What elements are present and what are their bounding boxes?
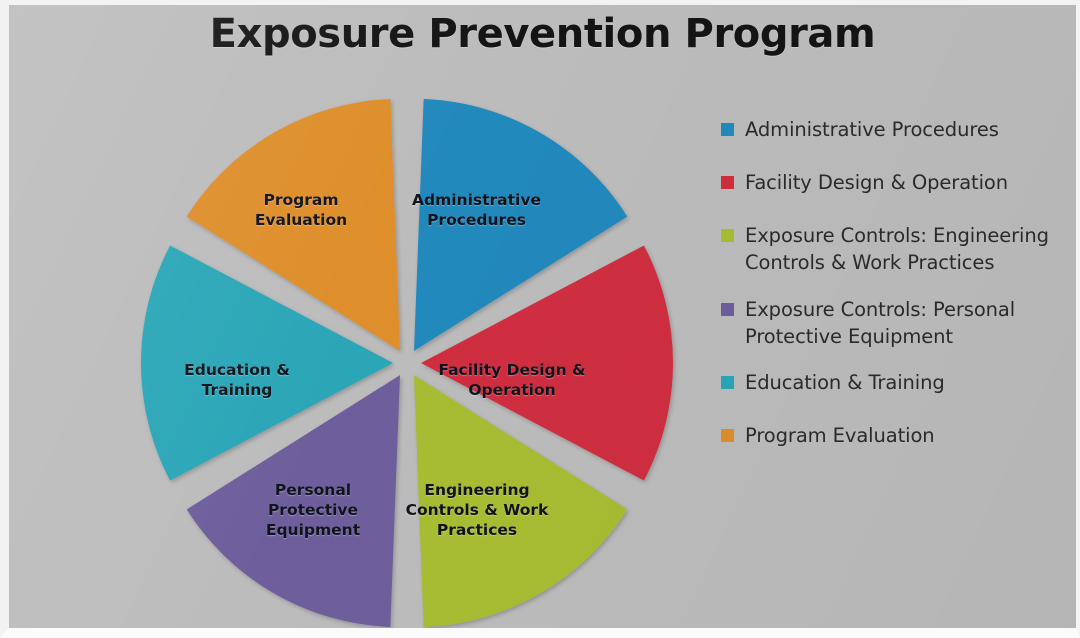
legend-item-administrative-procedures: Administrative Procedures xyxy=(721,117,1077,144)
legend-item-engineering-controls: Exposure Controls: Engineering Controls … xyxy=(721,223,1077,277)
legend-item-program-evaluation: Program Evaluation xyxy=(721,423,1077,450)
legend-swatch-icon xyxy=(721,176,734,189)
chart-legend: Administrative Procedures Facility Desig… xyxy=(721,117,1077,476)
legend-item-facility-design-operation: Facility Design & Operation xyxy=(721,170,1077,197)
pie-chart-svg xyxy=(117,83,697,638)
page-title: Exposure Prevention Program xyxy=(9,11,1076,57)
legend-swatch-icon xyxy=(721,229,734,242)
legend-swatch-icon xyxy=(721,376,734,389)
legend-label: Program Evaluation xyxy=(745,423,935,450)
legend-swatch-icon xyxy=(721,303,734,316)
legend-swatch-icon xyxy=(721,123,734,136)
slide-canvas: Exposure Prevention Program Administrati… xyxy=(0,0,1080,638)
pie-chart: Administrative Procedures Facility Desig… xyxy=(117,83,697,638)
legend-label: Facility Design & Operation xyxy=(745,170,1008,197)
legend-label: Exposure Controls: Engineering Controls … xyxy=(745,223,1077,277)
legend-label: Administrative Procedures xyxy=(745,117,999,144)
legend-label: Exposure Controls: Personal Protective E… xyxy=(745,297,1077,351)
legend-item-personal-protective-equipment: Exposure Controls: Personal Protective E… xyxy=(721,297,1077,351)
legend-swatch-icon xyxy=(721,429,734,442)
legend-label: Education & Training xyxy=(745,370,945,397)
legend-item-education-training: Education & Training xyxy=(721,370,1077,397)
